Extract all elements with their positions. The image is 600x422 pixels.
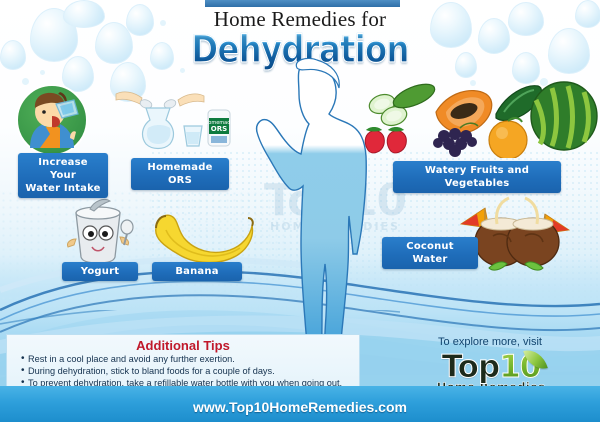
additional-tips-title: Additional Tips — [7, 335, 359, 354]
label-homemade-ors[interactable]: Homemade ORS — [131, 158, 229, 190]
label-coconut-water[interactable]: Coconut Water — [382, 237, 478, 269]
label-yogurt[interactable]: Yogurt — [62, 262, 138, 281]
tip-item: Rest in a cool place and avoid any furth… — [21, 354, 353, 365]
label-banana[interactable]: Banana — [152, 262, 242, 281]
svg-text:ORS: ORS — [211, 125, 227, 133]
infographic-poster: Top10 HOME REMEDIES Home Remedies for De… — [0, 0, 600, 422]
water-droplet-icon — [0, 40, 26, 70]
pitcher-and-ors-packet-icon: Homemade ORS — [112, 84, 232, 154]
label-watery-fruits-vegetables[interactable]: Watery Fruits and Vegetables — [393, 161, 561, 193]
boy-drinking-water-icon — [16, 84, 84, 152]
label-line-2: Water Intake — [25, 183, 100, 194]
explore-more-text: To explore more, visit — [390, 336, 590, 348]
label-increase-water-intake[interactable]: Increase Your Water Intake — [18, 153, 108, 198]
label-line-1: Increase Your — [38, 157, 88, 181]
additional-tips-list: Rest in a cool place and avoid any furth… — [7, 354, 359, 389]
tip-item: During dehydration, stick to bland foods… — [21, 366, 353, 377]
header-accent-bar — [205, 0, 400, 7]
yogurt-cup-icon — [60, 195, 136, 265]
banana-icon — [148, 208, 258, 264]
logo-wordmark: Top10 — [442, 352, 541, 383]
fruits-and-vegetables-icon — [356, 78, 600, 158]
website-url[interactable]: www.Top10HomeRemedies.com — [0, 399, 600, 415]
logo-top-text: Top — [442, 349, 500, 385]
